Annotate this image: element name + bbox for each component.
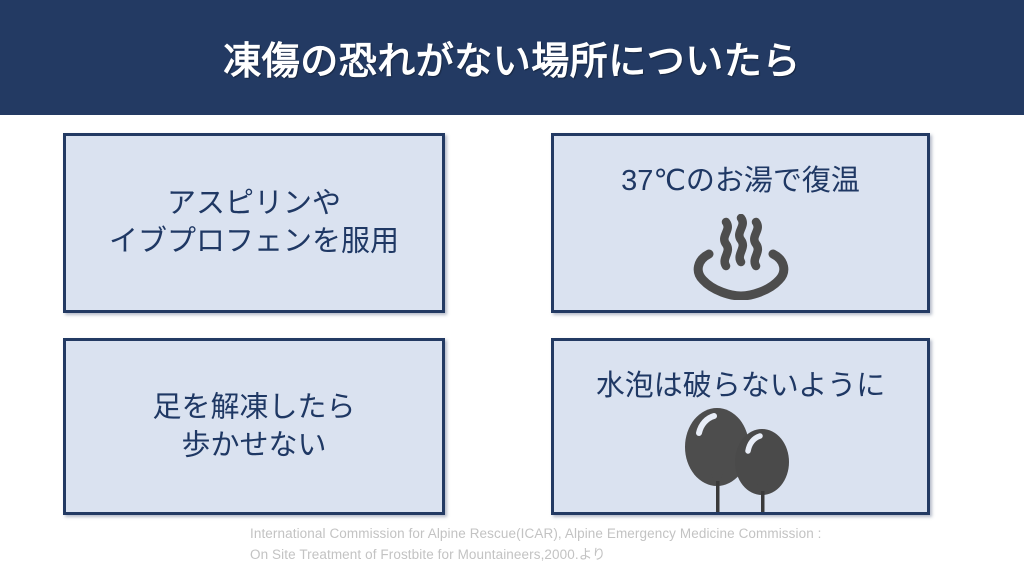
citation-text: International Commission for Alpine Resc… xyxy=(250,524,950,566)
card-blister-text: 水泡は破らないように xyxy=(554,367,927,405)
page-title: 凍傷の恐れがない場所についたら xyxy=(0,0,1024,115)
card-aspirin: アスピリンや イブプロフェンを服用 xyxy=(63,133,445,313)
card-nowalk: 足を解凍したら 歩かせない xyxy=(63,338,445,515)
balloons-icon xyxy=(675,403,807,515)
balloon-right xyxy=(735,429,789,513)
card-blister: 水泡は破らないように xyxy=(551,338,930,515)
card-rewarm-text: 37℃のお湯で復温 xyxy=(554,162,927,200)
hot-spring-icon xyxy=(693,214,789,305)
card-nowalk-text: 足を解凍したら 歩かせない xyxy=(66,388,442,465)
card-aspirin-text: アスピリンや イブプロフェンを服用 xyxy=(66,185,442,262)
card-rewarm: 37℃のお湯で復温 xyxy=(551,133,930,313)
